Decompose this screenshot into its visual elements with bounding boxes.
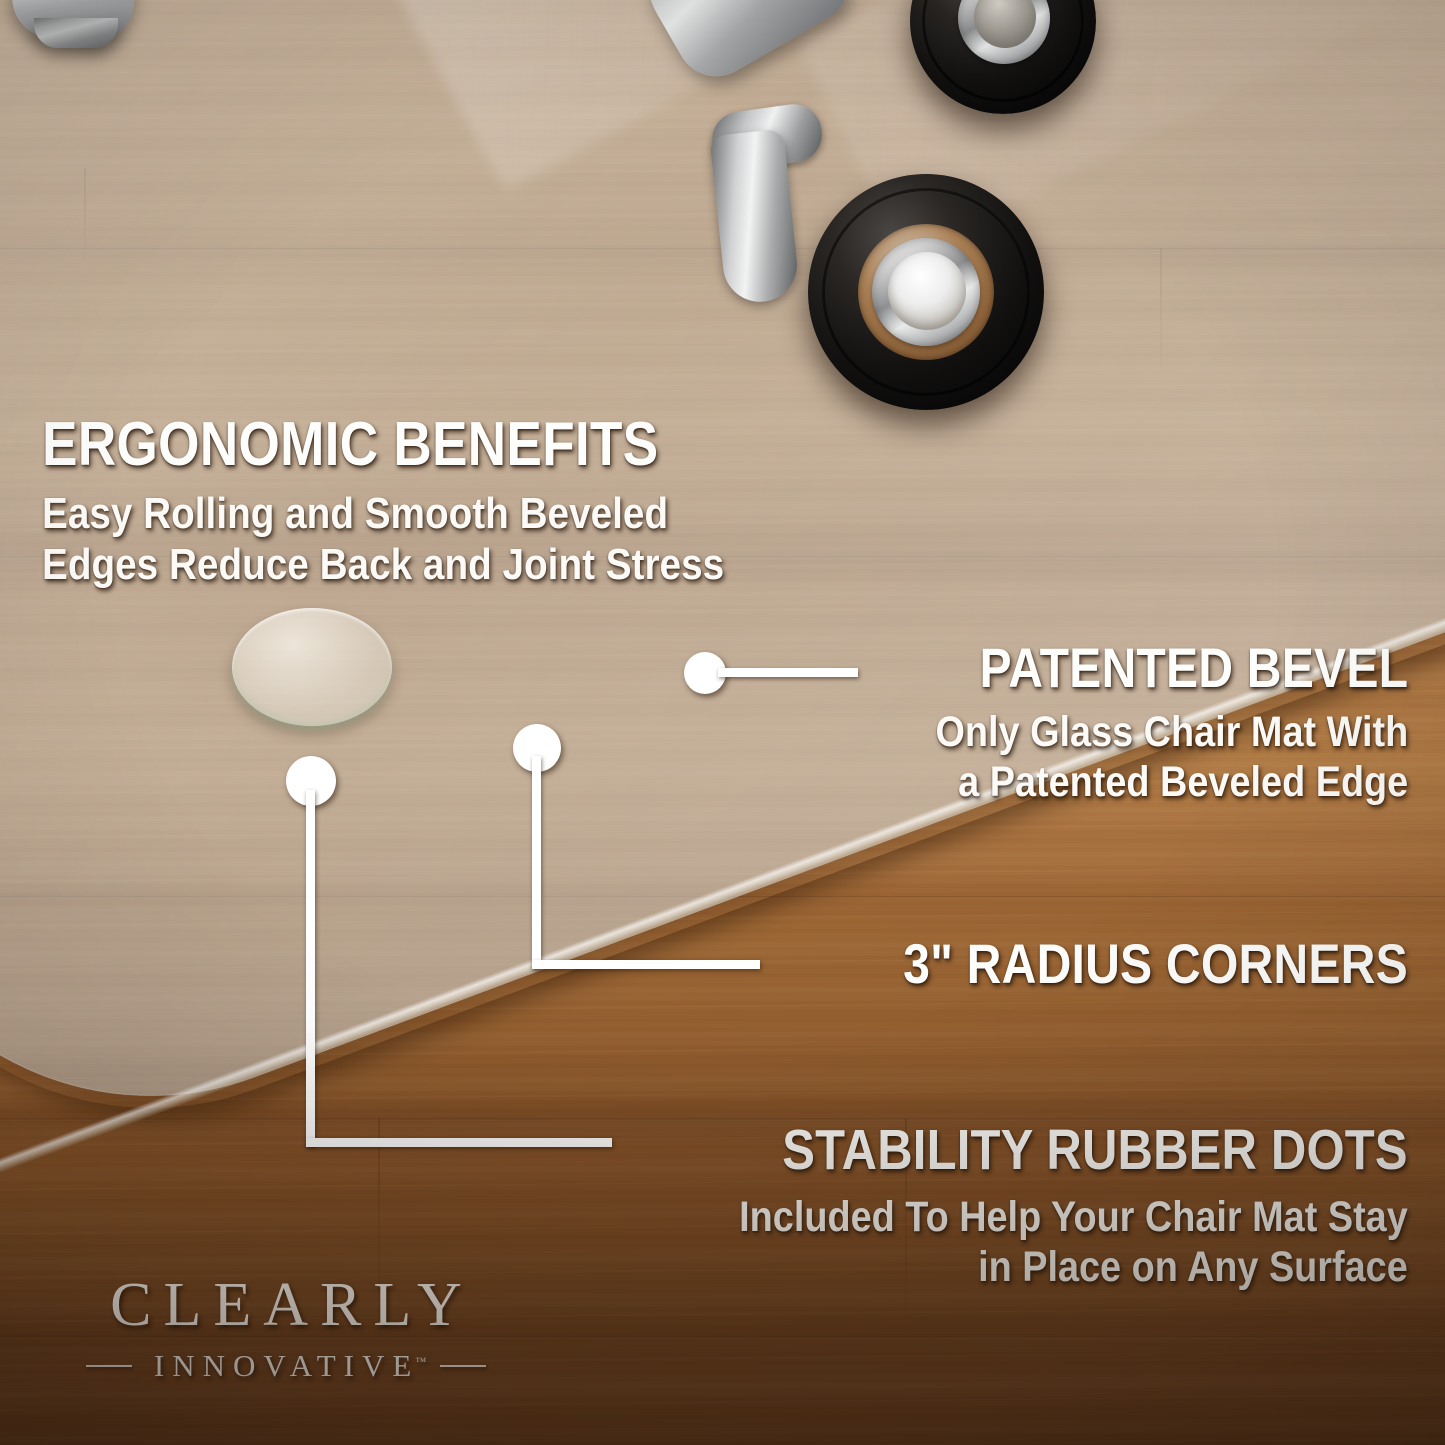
- vignette-overlay: [0, 0, 1445, 1445]
- product-feature-image: ERGONOMIC BENEFITS Easy Rolling and Smoo…: [0, 0, 1445, 1445]
